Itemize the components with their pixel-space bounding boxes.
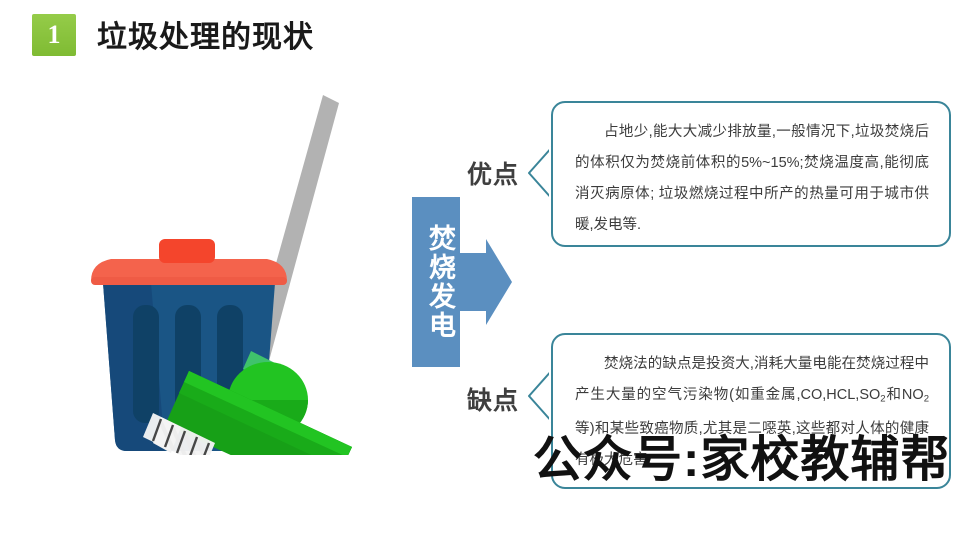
page-title: 垃圾处理的现状 <box>97 12 314 56</box>
trash-can-lid-icon <box>91 239 287 285</box>
callout-text-pros: 占地少,能大大减少排放量,一般情况下,垃圾焚烧后的体积仅为焚烧前体积的5%~15… <box>553 103 949 251</box>
cons-text-segment-1: 焚烧法的缺点是投资大,消耗大量电能在焚烧过程中产生大量的空气污染物(如重金属,C… <box>575 356 929 403</box>
callout-box-pros: 占地少,能大大减少排放量,一般情况下,垃圾焚烧后的体积仅为焚烧前体积的5%~15… <box>551 101 951 247</box>
cons-no2-subscript: 2 <box>924 393 929 404</box>
trash-can-illustration <box>55 95 395 455</box>
branch-label-pros: 优点 <box>467 155 519 191</box>
callout-tail-cons <box>527 368 553 424</box>
cons-text-segment-2: 和NO <box>886 387 924 403</box>
section-number-badge: 1 <box>32 14 76 56</box>
slide-header: 1 垃圾处理的现状 <box>0 0 960 70</box>
watermark-text: 公众号:家校教辅帮 <box>533 420 950 491</box>
callout-tail-pros <box>527 145 553 201</box>
process-arrow-label: 焚烧发电 <box>414 206 458 358</box>
branch-label-cons: 缺点 <box>467 381 519 417</box>
slide-canvas: 1 垃圾处理的现状 <box>0 0 960 540</box>
